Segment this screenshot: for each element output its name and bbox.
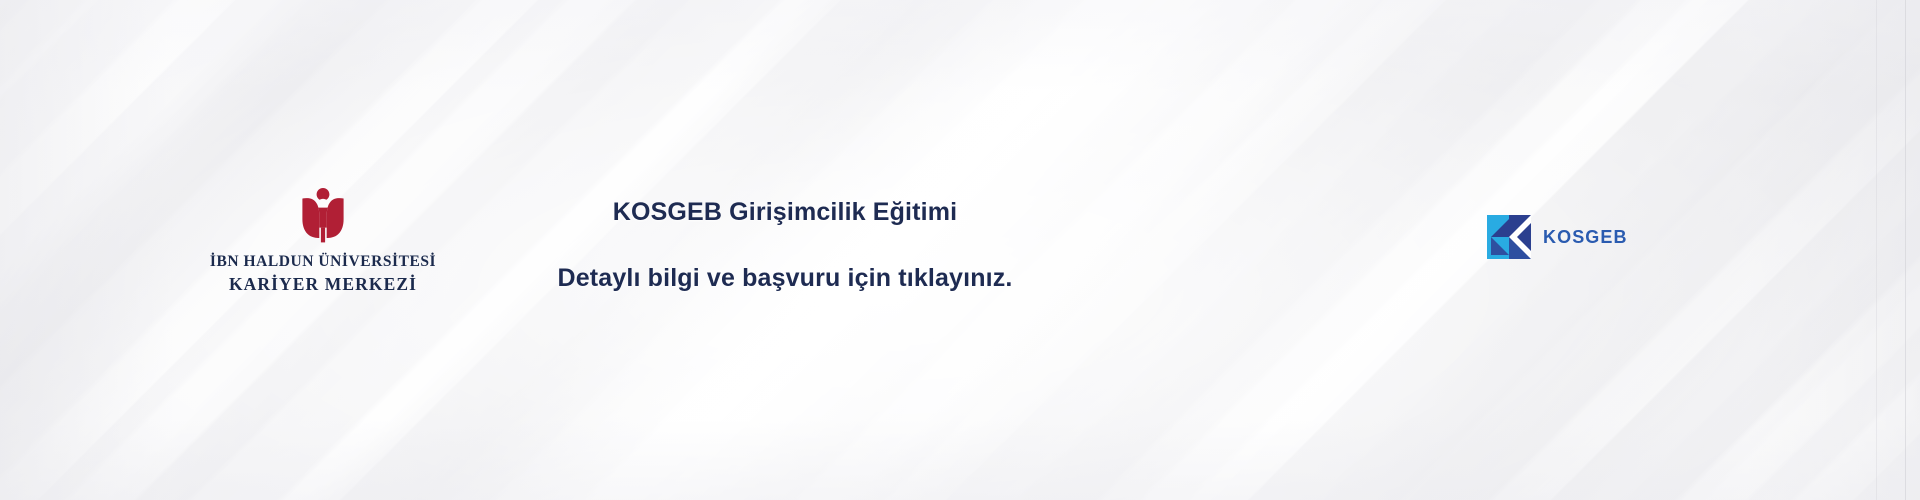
banner-cta-text[interactable]: Detaylı bilgi ve başvuru için tıklayınız… [430, 264, 1140, 293]
promo-banner[interactable]: İBN HALDUN ÜNİVERSİTESİ KARİYER MERKEZİ … [0, 0, 1920, 500]
right-edge-line [1905, 0, 1906, 500]
kosgeb-wordmark: KOSGEB [1543, 227, 1628, 248]
headline-block[interactable]: KOSGEB Girişimcilik Eğitimi Detaylı bilg… [430, 198, 1140, 293]
university-name-line1: İBN HALDUN ÜNİVERSİTESİ [182, 253, 464, 271]
kosgeb-logo-lockup[interactable]: KOSGEB [1487, 215, 1628, 259]
kosgeb-chevron-logo-icon [1487, 215, 1531, 259]
right-edge-line-secondary [1876, 0, 1877, 500]
university-name-line2: KARİYER MERKEZİ [182, 274, 464, 295]
tulip-icon [299, 186, 347, 244]
university-logo-lockup[interactable]: İBN HALDUN ÜNİVERSİTESİ KARİYER MERKEZİ [182, 186, 464, 295]
banner-title: KOSGEB Girişimcilik Eğitimi [430, 198, 1140, 227]
